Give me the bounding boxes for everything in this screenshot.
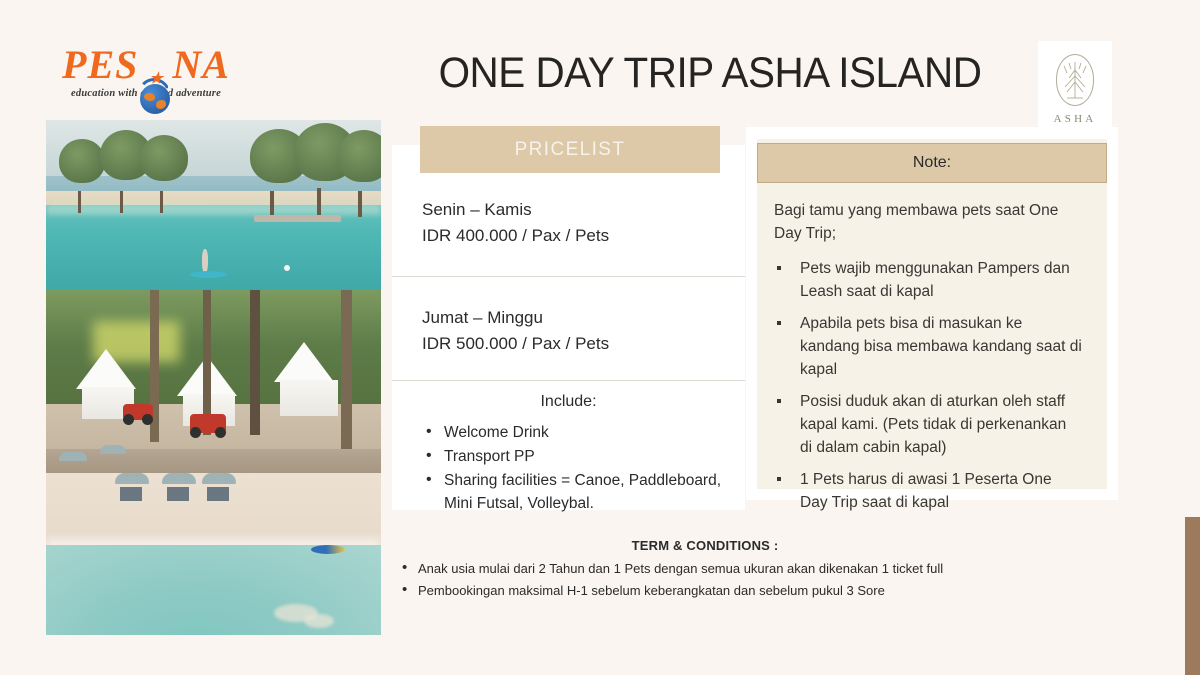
price-row: Senin – Kamis IDR 400.000 / Pax / Pets [392, 197, 745, 249]
list-item: Welcome Drink [422, 421, 725, 444]
photo-lagoon-paddleboard [46, 120, 381, 290]
list-item: Transport PP [422, 445, 725, 468]
accent-bar [1185, 517, 1200, 675]
photo-glamping-beach [46, 290, 381, 635]
price-amount: IDR 500.000 / Pax / Pets [422, 331, 715, 357]
note-list: Pets wajib menggunakan Pampers dan Leash… [774, 257, 1096, 514]
pricelist-header-label: PRICELIST [515, 139, 626, 161]
list-item: Pets wajib menggunakan Pampers dan Leash… [774, 257, 1082, 303]
note-header-label: Note: [913, 154, 951, 172]
price-days: Senin – Kamis [422, 197, 715, 223]
note-header: Note: [757, 143, 1107, 183]
terms-and-conditions: TERM & CONDITIONS : Anak usia mulai dari… [392, 538, 1018, 602]
pesona-logo-text-left: PES [62, 42, 138, 87]
terms-list: Anak usia mulai dari 2 Tahun dan 1 Pets … [392, 558, 1018, 602]
list-item: 1 Pets harus di awasi 1 Peserta One Day … [774, 468, 1082, 514]
list-item: Sharing facilities = Canoe, Paddleboard,… [422, 469, 725, 515]
list-item: Posisi duduk akan di aturkan oleh staff … [774, 390, 1082, 459]
note-intro: Bagi tamu yang membawa pets saat One Day… [774, 199, 1082, 245]
asha-logo: ASHA [1038, 41, 1112, 137]
terms-title: TERM & CONDITIONS : [392, 538, 1018, 553]
page-title: ONE DAY TRIP ASHA ISLAND [414, 46, 1006, 100]
price-days: Jumat – Minggu [422, 305, 715, 331]
divider [392, 276, 745, 277]
price-amount: IDR 400.000 / Pax / Pets [422, 223, 715, 249]
note-body: Bagi tamu yang membawa pets saat One Day… [774, 199, 1096, 523]
include-title: Include: [412, 393, 725, 411]
note-card: Note: Bagi tamu yang membawa pets saat O… [746, 127, 1118, 500]
include-list: Welcome Drink Transport PP Sharing facil… [412, 421, 725, 515]
list-item: Pembookingan maksimal H-1 sebelum kebera… [400, 580, 1018, 602]
list-item: Anak usia mulai dari 2 Tahun dan 1 Pets … [400, 558, 1018, 580]
pesona-logo: PES★NA education with art and adventure [46, 44, 246, 106]
list-item: Apabila pets bisa di masukan ke kandang … [774, 312, 1082, 381]
asha-logo-text: ASHA [1054, 113, 1097, 125]
pricelist-card: Senin – Kamis IDR 400.000 / Pax / Pets J… [392, 145, 745, 510]
pesona-logo-text-right: NA [172, 42, 230, 87]
slide-canvas: PES★NA education with art and adventure … [0, 0, 1200, 675]
divider [392, 380, 745, 381]
star-icon: ★ [149, 72, 163, 87]
include-block: Include: Welcome Drink Transport PP Shar… [392, 393, 745, 516]
asha-tree-mark-icon [1056, 54, 1094, 106]
pricelist-header: PRICELIST [420, 126, 720, 173]
photo-panel [46, 120, 381, 635]
pesona-wordmark: PES★NA [46, 44, 246, 86]
price-row: Jumat – Minggu IDR 500.000 / Pax / Pets [392, 305, 745, 357]
